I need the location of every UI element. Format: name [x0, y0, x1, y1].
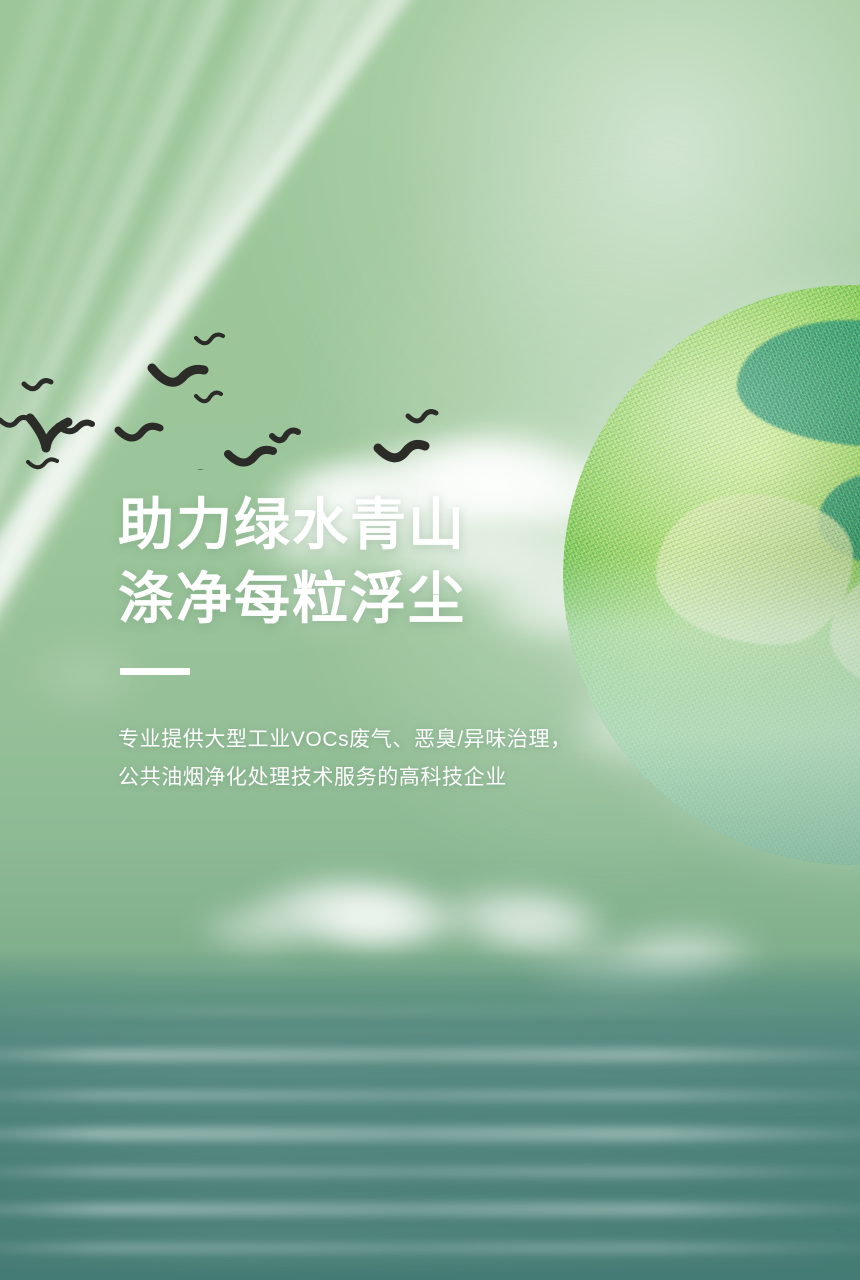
water-ripple — [0, 1242, 860, 1254]
divider-rule — [120, 668, 190, 675]
water-ripple — [0, 966, 860, 973]
water-ripple — [0, 1126, 860, 1142]
water-ripples-icon — [0, 950, 860, 1280]
hero-copy: 助力绿水青山 涤净每粒浮尘 专业提供大型工业VOCs废气、恶臭/异味治理， 公共… — [118, 488, 658, 797]
water-ripple — [0, 1260, 860, 1267]
headline-line-2: 涤净每粒浮尘 — [118, 562, 658, 636]
water-ripple — [0, 1030, 860, 1036]
water-ripple — [0, 1150, 860, 1158]
water-ripple — [0, 1166, 860, 1178]
subtitle-line-2: 公共油烟净化处理技术服务的高科技企业 — [118, 759, 658, 797]
water-ripple — [0, 1110, 860, 1116]
water-ripple — [0, 1006, 860, 1016]
water-ripple — [0, 1186, 860, 1193]
water-ripple — [0, 984, 860, 989]
water-ripple — [0, 1090, 860, 1101]
subtitle-line-1: 专业提供大型工业VOCs废气、恶臭/异味治理， — [118, 721, 658, 759]
water-ripple — [0, 1226, 860, 1235]
water-ripple — [0, 1072, 860, 1079]
water-ripple — [0, 1202, 860, 1217]
poster-canvas: 助力绿水青山 涤净每粒浮尘 专业提供大型工业VOCs废气、恶臭/异味治理， 公共… — [0, 0, 860, 1280]
water-ripple — [0, 1048, 860, 1062]
headline-line-1: 助力绿水青山 — [118, 488, 658, 562]
